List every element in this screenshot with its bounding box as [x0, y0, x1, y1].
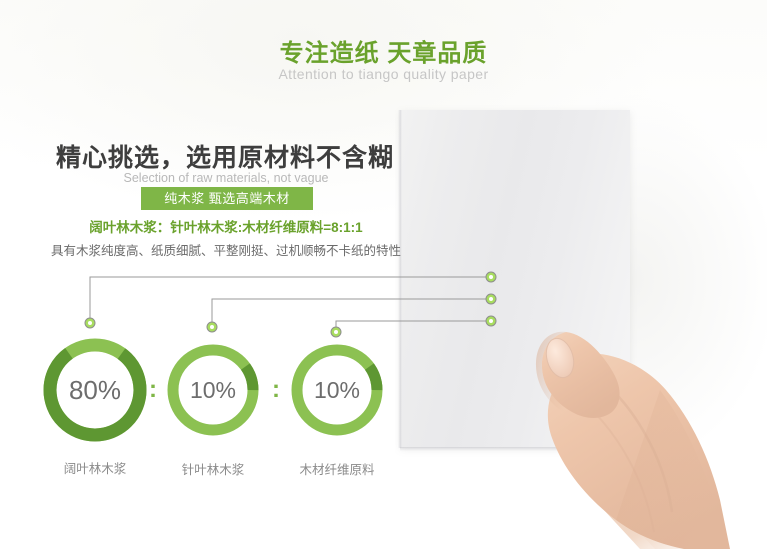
donut-ring-3: 10%	[288, 341, 386, 439]
dot-left-3	[331, 327, 341, 337]
feature-badge: 纯木浆 甄选高端木材	[141, 187, 313, 210]
page-title: 专注造纸 天章品质	[0, 33, 767, 68]
dot-left-1	[85, 318, 95, 328]
separator-colon-1: :	[149, 378, 157, 402]
page-subtitle: Attention to tiango quality paper	[0, 66, 767, 82]
donut-ring-2: 10%	[164, 341, 262, 439]
donut-chart-2: 10% 针叶林木浆	[164, 341, 262, 439]
donut-ring-1: 80%	[39, 334, 151, 446]
donut-label-3: 木材纤维原料	[288, 459, 386, 478]
paper-photo	[395, 0, 767, 549]
dot-left-3-center	[334, 330, 338, 334]
donut-value-1: 80%	[39, 334, 151, 446]
dot-left-2-center	[210, 325, 214, 329]
dot-left-2	[207, 322, 217, 332]
donut-value-2: 10%	[164, 341, 262, 439]
dot-left-1-center	[88, 321, 92, 325]
donut-chart-1: 80% 阔叶林木浆	[39, 334, 151, 446]
paper-left-edge	[398, 110, 402, 448]
donut-chart-3: 10% 木材纤维原料	[288, 341, 386, 439]
donut-label-2: 针叶林木浆	[164, 459, 262, 478]
hand-holding-paper	[520, 320, 767, 549]
feature-title: 精心挑选，选用原材料不含糊	[56, 138, 394, 174]
separator-colon-2: :	[272, 378, 280, 402]
donut-label-1: 阔叶林木浆	[39, 458, 151, 477]
ratio-text: 阔叶林木浆：针叶林木浆:木材纤维原料=8:1:1	[56, 216, 396, 236]
promo-banner: 专注造纸 天章品质 Attention to tiango quality pa…	[0, 0, 767, 549]
feature-description: 具有木浆纯度高、纸质细腻、平整刚挺、过机顺畅不卡纸的特性	[40, 240, 412, 259]
feature-subtitle: Selection of raw materials, not vague	[56, 171, 396, 185]
donut-value-3: 10%	[288, 341, 386, 439]
